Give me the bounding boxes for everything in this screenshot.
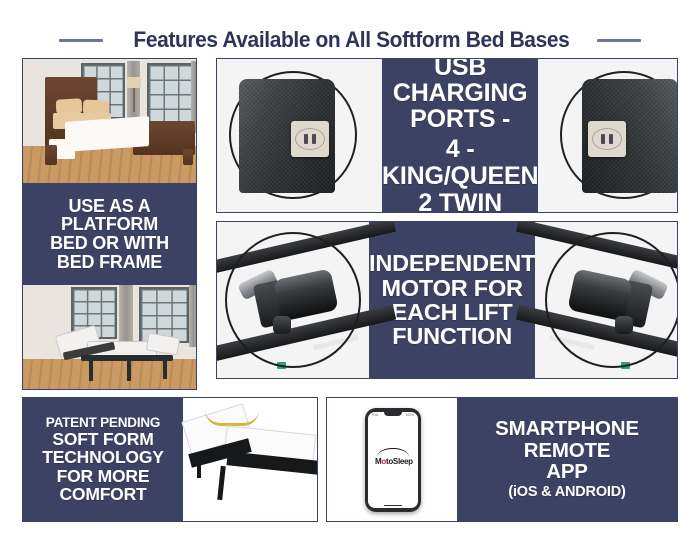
usb-slot-1-icon — [601, 134, 605, 144]
softform-text-panel: PATENT PENDING SOFT FORM TECHNOLOGY FOR … — [23, 398, 183, 521]
window-right-icon — [147, 63, 195, 125]
usb-sub-line-1: 4 -KING/QUEEN — [382, 136, 538, 190]
card-smartphone-remote-app: 9:41 100% MotoSleep SMARTPHONE REMOTE AP… — [326, 397, 678, 522]
phone-status-bar: 9:41 100% — [368, 413, 418, 417]
softform-heading-line-2: TECHNOLOGY — [42, 448, 163, 466]
usb-slot-2-icon — [312, 134, 316, 144]
phone-heading-line-3: APP — [546, 461, 588, 482]
usb-heading-line-3: PORTS - — [410, 106, 510, 132]
usb-heading-line-1: USB — [434, 58, 486, 80]
motosleep-logo-text: MotoSleep — [375, 457, 413, 466]
motor-text-panel: INDEPENDENT MOTOR FOR EACH LIFT FUNCTION — [369, 222, 535, 378]
lamp-pole — [133, 88, 135, 112]
bedroom-scene — [23, 59, 196, 183]
softform-heading-line-1: SOFT FORM — [52, 430, 153, 448]
bed-post-right — [183, 149, 193, 165]
bed-post-left — [45, 145, 57, 165]
phone-text-panel: SMARTPHONE REMOTE APP (iOS & ANDROID) — [457, 398, 677, 521]
logo-part-2: toSleep — [386, 457, 413, 466]
usb-sub-line-2: 2 TWIN — [418, 190, 502, 213]
card-soft-form-technology: PATENT PENDING SOFT FORM TECHNOLOGY FOR … — [22, 397, 318, 522]
gold-accent-curve — [205, 410, 259, 426]
usb-plate-ring-icon — [592, 128, 622, 150]
platform-caption-line-3: BED OR WITH — [50, 234, 169, 253]
lift-motor-closeup-right-image — [535, 222, 678, 378]
bed-sheet — [65, 116, 149, 152]
usb-slot-1-icon — [304, 134, 308, 144]
adjustable-bed-scene — [23, 285, 196, 390]
title-rule-right-icon — [597, 39, 641, 42]
curtain-right — [189, 285, 196, 347]
platform-caption-line-4: BED FRAME — [57, 253, 162, 272]
base-leg-rear — [197, 458, 201, 478]
base-leg-2 — [127, 359, 131, 381]
lift-motor-closeup-left-image — [217, 222, 369, 378]
phone-sub-line: (iOS & ANDROID) — [508, 485, 625, 501]
soft-form-bed-base-gold-accent-image — [183, 398, 317, 521]
bedroom-with-wood-bed-frame-image — [23, 59, 196, 183]
platform-caption-line-2: PLATFORM — [61, 215, 158, 234]
smartphone-showing-motosleep-app-image: 9:41 100% MotoSleep — [327, 398, 457, 521]
motor-heading-line-3: EACH LIFT — [392, 300, 513, 324]
softform-small-line: PATENT PENDING — [46, 416, 160, 430]
platform-caption-panel: USE AS A PLATFORM BED OR WITH BED FRAME — [23, 183, 196, 285]
motor-heading-line-4: FUNCTION — [392, 324, 512, 348]
page-title: Features Available on All Softform Bed B… — [133, 27, 569, 53]
platform-caption-line-1: USE AS A — [68, 197, 150, 216]
usb-port-on-bed-corner-right-image — [538, 59, 678, 212]
wood-floor — [23, 359, 196, 390]
phone-heading-line-2: REMOTE — [524, 440, 611, 461]
usb-plate-left — [291, 121, 329, 157]
usb-port-on-bed-corner-left-image — [217, 59, 382, 212]
phone-home-indicator — [384, 505, 402, 507]
phone-heading-line-1: SMARTPHONE — [495, 418, 639, 439]
motor-mount — [615, 316, 633, 334]
phone-screen: 9:41 100% MotoSleep — [368, 412, 418, 508]
adjustable-bed-base-raised-image — [23, 285, 196, 390]
page-title-row: Features Available on All Softform Bed B… — [0, 26, 700, 54]
status-battery: 100% — [405, 413, 414, 417]
base-leg-3 — [163, 357, 167, 379]
card-usb-charging-ports: USB CHARGING PORTS - 4 -KING/QUEEN 2 TWI… — [216, 58, 678, 213]
infographic-page: Features Available on All Softform Bed B… — [0, 0, 700, 545]
usb-heading-line-2: CHARGING — [393, 80, 528, 106]
usb-plate-ring-icon — [295, 128, 325, 150]
status-time: 9:41 — [372, 413, 379, 417]
usb-plate-right — [588, 121, 626, 157]
card-platform-bed: USE AS A PLATFORM BED OR WITH BED FRAME — [22, 58, 197, 390]
softform-heading-line-3: FOR MORE — [57, 467, 150, 485]
motor-heading-line-2: MOTOR FOR — [381, 276, 522, 300]
motor-mount — [273, 316, 291, 334]
title-rule-left-icon — [59, 39, 103, 42]
base-leg-front — [217, 466, 226, 500]
lamp-shade — [127, 77, 141, 88]
usb-slot-2-icon — [609, 134, 613, 144]
softform-heading-line-4: COMFORT — [59, 485, 146, 503]
motosleep-wave-icon — [377, 448, 409, 457]
base-leg-1 — [89, 359, 93, 381]
motor-heading-line-1: INDEPENDENT — [369, 251, 535, 275]
usb-text-panel: USB CHARGING PORTS - 4 -KING/QUEEN 2 TWI… — [382, 59, 538, 212]
phone-body: 9:41 100% MotoSleep — [365, 408, 421, 512]
card-independent-motor: INDEPENDENT MOTOR FOR EACH LIFT FUNCTION — [216, 221, 678, 379]
